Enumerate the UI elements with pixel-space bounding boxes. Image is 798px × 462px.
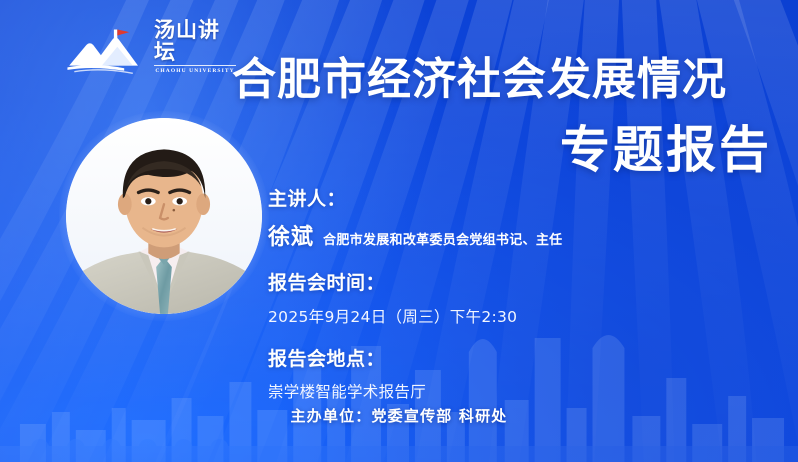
poster-footer: 主办单位：党委宣传部 科研处 — [0, 405, 798, 426]
page-title-line2: 专题报告 — [232, 124, 772, 177]
mountain-logo-icon — [64, 26, 150, 76]
logo-chinese-name: 汤山讲坛 — [154, 19, 236, 63]
speaker-block: 主讲人： 徐斌 合肥市发展和改革委员会党组书记、主任 — [268, 188, 738, 251]
speaker-name: 徐斌 — [268, 219, 314, 251]
time-label: 报告会时间： — [268, 272, 738, 296]
time-value: 2025年9月24日（周三）下午2:30 — [268, 305, 738, 327]
page-title-line1: 合肥市经济社会发展情况 — [232, 57, 772, 104]
speaker-row: 徐斌 合肥市发展和改革委员会党组书记、主任 — [268, 219, 738, 251]
event-details: 主讲人： 徐斌 合肥市发展和改革委员会党组书记、主任 报告会时间： 2025年9… — [268, 188, 738, 402]
speaker-title: 合肥市发展和改革委员会党组书记、主任 — [323, 229, 562, 248]
logo-wordmark: 汤山讲坛 CHAOHU UNIVERSITY — [154, 19, 236, 76]
speaker-label: 主讲人： — [268, 188, 738, 212]
logo-english-name: CHAOHU UNIVERSITY — [154, 68, 236, 74]
time-block: 报告会时间： 2025年9月24日（周三）下午2:30 — [268, 272, 738, 327]
logo-divider — [154, 65, 236, 66]
organizer-text: 主办单位：党委宣传部 科研处 — [290, 405, 507, 426]
chaohu-university-logo: 汤山讲坛 CHAOHU UNIVERSITY — [64, 24, 236, 76]
event-poster: 汤山讲坛 CHAOHU UNIVERSITY — [0, 0, 798, 462]
venue-block: 报告会地点： 崇学楼智能学术报告厅 — [268, 348, 738, 403]
venue-label: 报告会地点： — [268, 348, 738, 372]
venue-value: 崇学楼智能学术报告厅 — [268, 380, 738, 402]
poster-headline: 合肥市经济社会发展情况 专题报告 — [232, 57, 772, 177]
